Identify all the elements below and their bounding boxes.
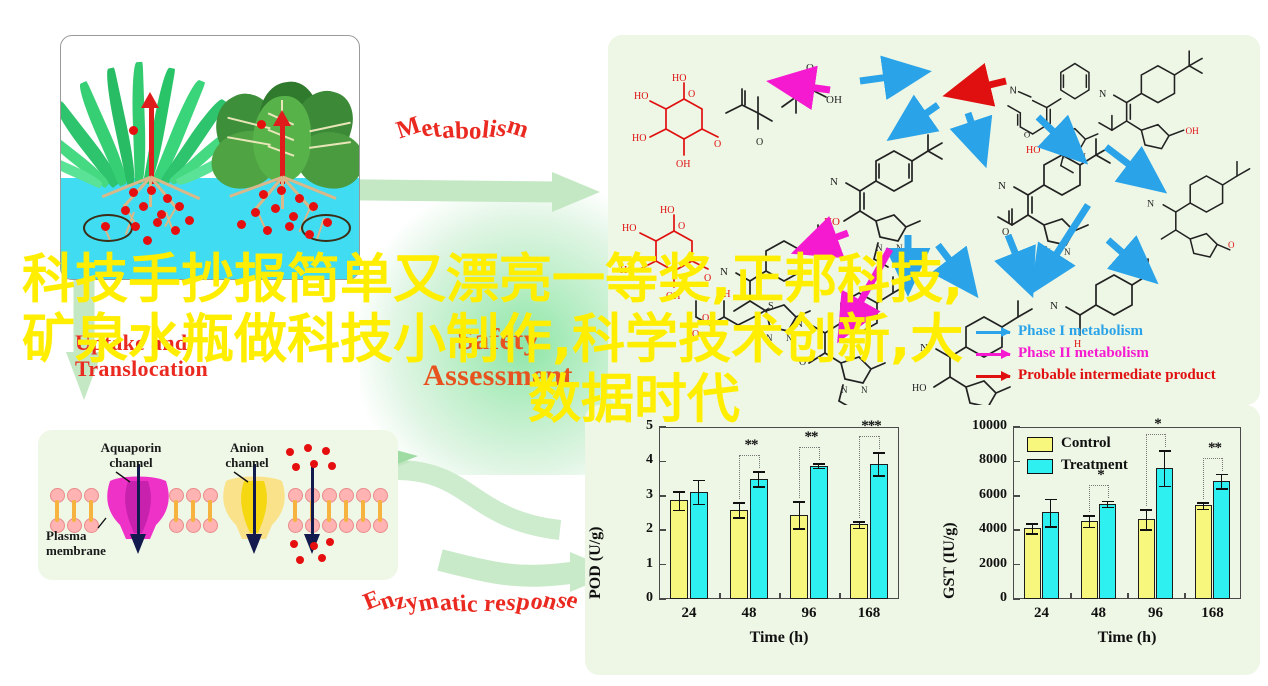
svg-text:HO: HO: [632, 133, 646, 144]
phase2-legend-label: Phase II metabolism: [1018, 345, 1149, 362]
svg-text:N: N: [1050, 300, 1058, 312]
error-cap: [693, 480, 705, 482]
label-safety-assessment: Safety Assessment: [388, 322, 608, 394]
bar-treatment-48: [750, 479, 768, 599]
bar-control-48: [730, 510, 748, 599]
svg-text:OH: OH: [666, 291, 680, 302]
svg-text:NH: NH: [716, 289, 730, 300]
svg-text:O: O: [692, 329, 699, 340]
y-axis-tick-label: 6000: [955, 487, 1007, 503]
y-axis-tick-label: 5: [601, 418, 653, 434]
svg-text:HO: HO: [622, 223, 636, 234]
bar-treatment-96: [1156, 468, 1173, 599]
y-axis-title: POD (U/g): [587, 527, 605, 599]
label-enzymatic-response: Enzymatic response: [366, 592, 576, 619]
intermediate-legend-label: Probable intermediate product: [1018, 367, 1216, 384]
significance-bracket: [1203, 458, 1221, 459]
x-axis-tick-label: 168: [1183, 605, 1243, 622]
y-axis-tick: [659, 529, 666, 531]
svg-text:OH: OH: [826, 94, 842, 106]
svg-text:N: N: [830, 176, 838, 188]
x-axis-title: Time (h): [1013, 629, 1241, 647]
error-cap: [1102, 507, 1114, 509]
bar-control-24: [1024, 528, 1041, 599]
y-axis-tick-label: 2: [601, 521, 653, 537]
error-bar: [878, 452, 880, 475]
bar-control-168: [1195, 505, 1212, 599]
y-axis-tick: [1013, 461, 1020, 463]
y-axis-tick-label: 3: [601, 487, 653, 503]
y-axis-tick-label: 0: [955, 590, 1007, 606]
error-cap: [873, 475, 885, 477]
error-cap: [673, 491, 685, 493]
error-cap: [813, 463, 825, 465]
label-leader-lines: [38, 430, 398, 580]
svg-text:N: N: [1010, 85, 1017, 96]
significance-marker: *: [1142, 416, 1172, 433]
plant-uptake-panel: [60, 35, 360, 280]
error-cap: [1197, 509, 1209, 511]
error-cap: [793, 528, 805, 530]
svg-text:N: N: [720, 266, 728, 278]
svg-text:S: S: [768, 301, 774, 312]
significance-bracket-leg: [1089, 485, 1090, 513]
x-axis-tick: [1184, 593, 1186, 599]
x-axis-tick-label: 48: [719, 605, 779, 622]
significance-bracket-leg: [799, 447, 800, 497]
x-axis-tick: [719, 593, 721, 599]
svg-text:O: O: [806, 62, 814, 74]
bar-control-168: [850, 524, 868, 599]
x-axis-tick-label: 96: [1126, 605, 1186, 622]
significance-bracket-leg: [1222, 458, 1223, 471]
error-cap: [853, 528, 865, 530]
label-safety: Safety: [388, 322, 608, 358]
svg-text:N: N: [998, 180, 1006, 192]
error-cap: [1083, 515, 1095, 517]
x-axis-tick-label: 24: [1012, 605, 1072, 622]
x-axis-title: Time (h): [659, 629, 899, 647]
y-axis-tick-label: 10000: [955, 418, 1007, 434]
pod-chart: 012345244896168*******Time (h)POD (U/g): [585, 405, 923, 675]
svg-text:HO: HO: [912, 383, 926, 394]
bar-treatment-168: [1213, 481, 1230, 599]
svg-text:HO: HO: [1026, 145, 1040, 156]
y-axis-tick: [1013, 529, 1020, 531]
phase1-legend-label: Phase I metabolism: [1018, 323, 1143, 340]
significance-marker: **: [735, 437, 766, 454]
error-cap: [1216, 488, 1228, 490]
y-axis-tick: [659, 564, 666, 566]
error-bar: [1164, 450, 1166, 486]
y-axis-tick-label: 4000: [955, 521, 1007, 537]
bar-control-24: [670, 500, 688, 599]
svg-text:O: O: [678, 221, 685, 232]
significance-bracket-leg: [819, 447, 820, 460]
significance-bracket: [1146, 434, 1164, 435]
y-axis-tick-label: 0: [601, 590, 653, 606]
svg-text:N: N: [896, 243, 903, 253]
error-cap: [753, 486, 765, 488]
bar-treatment-168: [870, 464, 888, 599]
significance-bracket-leg: [739, 455, 740, 499]
error-cap: [1140, 509, 1152, 511]
label-metabolism: Metabolism: [398, 118, 527, 146]
error-cap: [1045, 499, 1057, 501]
y-axis-tick: [659, 461, 666, 463]
legend-swatch-control: [1027, 437, 1053, 452]
phase2-arrow-icon: [976, 353, 1010, 356]
x-axis-tick-label: 168: [839, 605, 899, 622]
error-bar: [698, 480, 700, 504]
error-cap: [733, 502, 745, 504]
svg-text:O: O: [799, 357, 806, 368]
phase1-arrow-icon: [976, 331, 1010, 334]
legend-label-treatment: Treatment: [1061, 457, 1128, 474]
svg-text:O: O: [714, 139, 721, 150]
svg-text:OH: OH: [676, 159, 690, 170]
error-bar: [739, 502, 741, 517]
error-cap: [1159, 450, 1171, 452]
significance-bracket: [1089, 485, 1107, 486]
svg-text:O: O: [704, 273, 711, 284]
error-cap: [853, 521, 865, 523]
svg-text:HO: HO: [824, 216, 840, 228]
y-axis-tick: [1013, 426, 1020, 428]
y-axis-tick: [659, 495, 666, 497]
error-cap: [873, 452, 885, 454]
y-axis-tick-label: 4: [601, 452, 653, 468]
poster-canvas: N O N N: [0, 0, 1268, 686]
svg-text:HO: HO: [660, 205, 674, 216]
significance-bracket-leg: [1146, 434, 1147, 506]
svg-text:OH: OH: [1186, 126, 1200, 136]
y-axis-tick: [1013, 598, 1020, 600]
error-cap: [1216, 474, 1228, 476]
svg-text:N: N: [1147, 199, 1154, 210]
error-cap: [1026, 533, 1038, 535]
error-cap: [1140, 529, 1152, 531]
x-axis-tick: [1127, 593, 1129, 599]
y-axis-tick: [1013, 495, 1020, 497]
significance-marker: **: [1199, 440, 1229, 457]
error-cap: [813, 468, 825, 470]
bar-control-96: [1138, 519, 1155, 599]
svg-text:N: N: [1080, 152, 1086, 161]
significance-bracket: [859, 436, 878, 437]
svg-text:O: O: [756, 137, 763, 148]
bar-treatment-48: [1099, 504, 1116, 599]
svg-text:HO: HO: [620, 265, 634, 276]
significance-bracket: [799, 447, 818, 448]
error-cap: [1026, 523, 1038, 525]
significance-bracket-leg: [879, 436, 880, 449]
svg-text:N: N: [766, 333, 773, 343]
bar-treatment-24: [690, 492, 708, 599]
error-bar: [679, 491, 681, 510]
error-cap: [1083, 527, 1095, 529]
significance-bracket-leg: [759, 455, 760, 468]
y-axis-tick: [659, 598, 666, 600]
error-cap: [1159, 486, 1171, 488]
enzyme-activity-charts: 012345244896168*******Time (h)POD (U/g) …: [585, 405, 1260, 675]
error-cap: [793, 501, 805, 503]
metabolite-structures: N O N N: [608, 35, 1260, 405]
svg-text:N: N: [920, 342, 928, 354]
error-cap: [673, 510, 685, 512]
significance-bracket-leg: [1108, 485, 1109, 498]
error-cap: [753, 471, 765, 473]
gst-chart: 0200040006000800010000244896168****Time …: [917, 405, 1257, 675]
svg-text:O: O: [1024, 129, 1030, 139]
metabolism-pathway-panel: N O N N: [608, 35, 1260, 405]
significance-bracket-leg: [1203, 458, 1204, 500]
label-assessment: Assessment: [388, 358, 608, 394]
error-cap: [1102, 501, 1114, 503]
error-cap: [1045, 526, 1057, 528]
y-axis-tick-label: 2000: [955, 556, 1007, 572]
membrane-transport-panel: Aquaporin channel Anion channel Plasma m…: [38, 430, 398, 580]
error-bar: [1221, 474, 1223, 489]
significance-bracket-leg: [859, 436, 860, 517]
y-axis-title: GST (IU/g): [941, 522, 959, 599]
error-cap: [733, 517, 745, 519]
error-bar: [1146, 509, 1148, 529]
svg-text:N: N: [1064, 247, 1071, 257]
y-axis-tick-label: 8000: [955, 452, 1007, 468]
error-cap: [693, 504, 705, 506]
svg-text:O: O: [1228, 240, 1235, 250]
error-cap: [1197, 502, 1209, 504]
x-axis-tick-label: 24: [659, 605, 719, 622]
y-axis-tick: [659, 426, 666, 428]
label-uptake-translocation: Uptake and Translocation: [75, 330, 208, 382]
y-axis-tick: [1013, 564, 1020, 566]
label-translocation: Translocation: [75, 356, 208, 382]
y-axis-tick-label: 1: [601, 556, 653, 572]
svg-text:HO: HO: [634, 91, 648, 102]
label-uptake: Uptake and: [75, 330, 208, 356]
error-bar: [1089, 515, 1091, 526]
x-axis-tick: [1070, 593, 1072, 599]
legend-swatch-treatment: [1027, 459, 1053, 474]
significance-marker: ***: [855, 418, 886, 435]
bar-treatment-96: [810, 466, 828, 599]
significance-bracket-leg: [1165, 434, 1166, 447]
x-axis-tick-label: 48: [1069, 605, 1129, 622]
svg-text:O: O: [688, 89, 695, 100]
x-axis-tick: [779, 593, 781, 599]
legend-label-control: Control: [1061, 435, 1111, 452]
svg-text:N: N: [861, 385, 868, 395]
svg-text:HO: HO: [672, 73, 686, 84]
error-bar: [758, 471, 760, 486]
svg-text:N: N: [1099, 89, 1107, 100]
bar-control-48: [1081, 521, 1098, 599]
significance-marker: **: [795, 429, 826, 446]
svg-text:N: N: [786, 333, 793, 343]
error-bar: [799, 501, 801, 529]
intermediate-arrow-icon: [976, 375, 1010, 378]
grass-uptake-arrow: [149, 106, 154, 184]
x-axis-tick-label: 96: [779, 605, 839, 622]
significance-bracket: [739, 455, 758, 456]
error-bar: [1050, 499, 1052, 526]
svg-text:N: N: [795, 318, 803, 330]
x-axis-tick: [839, 593, 841, 599]
